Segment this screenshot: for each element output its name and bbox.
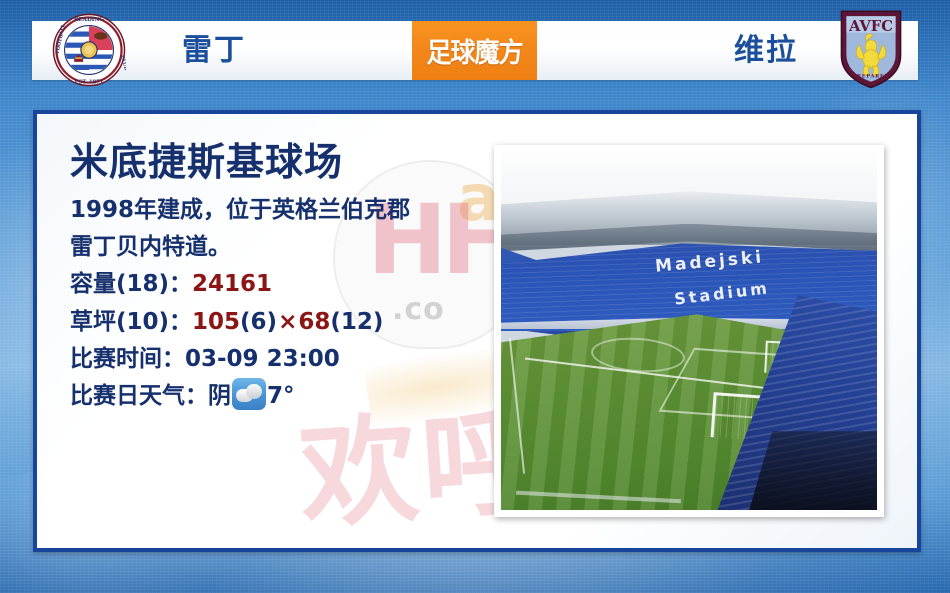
svg-text:PREPARED: PREPARED [852, 74, 889, 80]
pitch-label: 草坪(10)： [70, 309, 192, 335]
site-logo-text: 足球魔方 [426, 31, 522, 70]
reading-fc-crest-icon: READING EST. 1871 FOOTBALL CLUB [52, 13, 126, 87]
pitch-width-value: 68 [298, 309, 330, 335]
pitch-width-rank: (12) [330, 309, 383, 335]
site-logo-football-magic-cube[interactable]: 足球魔方 [412, 21, 537, 80]
stadium-description-line-1: 1998年建成，位于英格兰伯克郡 [70, 192, 500, 229]
stadium-info-column: 米底捷斯基球场 1998年建成，位于英格兰伯克郡 雷丁贝内特道。 容量(18)：… [70, 142, 500, 415]
stadium-description-line-2: 雷丁贝内特道。 [70, 229, 500, 266]
stadium-pitch-row: 草坪(10)：105(6)×68(12) [70, 304, 500, 341]
svg-text:EST. 1871: EST. 1871 [75, 79, 104, 85]
aston-villa-crest-icon: AVFC PREPARED [838, 8, 904, 90]
stadium-capacity-row: 容量(18)：24161 [70, 266, 500, 303]
stadium-photo: Madejski Stadium [501, 152, 877, 510]
cloudy-icon [232, 378, 266, 410]
weather-label: 比赛日天气： [70, 383, 208, 409]
stadium-title: 米底捷斯基球场 [70, 142, 500, 184]
home-team-name: 雷丁 [182, 21, 246, 80]
pitch-dimension-separator: × [277, 309, 298, 335]
weather-condition: 阴 [208, 383, 231, 409]
capacity-label: 容量(18)： [70, 271, 192, 297]
pitch-length-rank: (6) [240, 309, 277, 335]
away-team-name: 维拉 [734, 21, 798, 80]
pitch-length-value: 105 [192, 309, 240, 335]
svg-text:AVFC: AVFC [848, 18, 893, 35]
match-time-row: 比赛时间：03-09 23:00 [70, 341, 500, 378]
weather-temperature: 7° [267, 383, 295, 409]
match-time-label: 比赛时间： [70, 346, 185, 372]
match-time-value: 03-09 23:00 [185, 346, 340, 372]
stadium-info-screen: 雷丁 维拉 [0, 0, 950, 593]
capacity-value: 24161 [192, 271, 272, 297]
svg-text:READING: READING [74, 17, 105, 23]
stadium-photo-frame: Madejski Stadium [494, 145, 884, 517]
stadium-info-panel: a HH .co 欢呼 米底捷斯基球场 1998年建成，位于英格兰伯克郡 雷丁贝… [33, 110, 921, 552]
match-weather-row: 比赛日天气：阴7° [70, 378, 500, 415]
